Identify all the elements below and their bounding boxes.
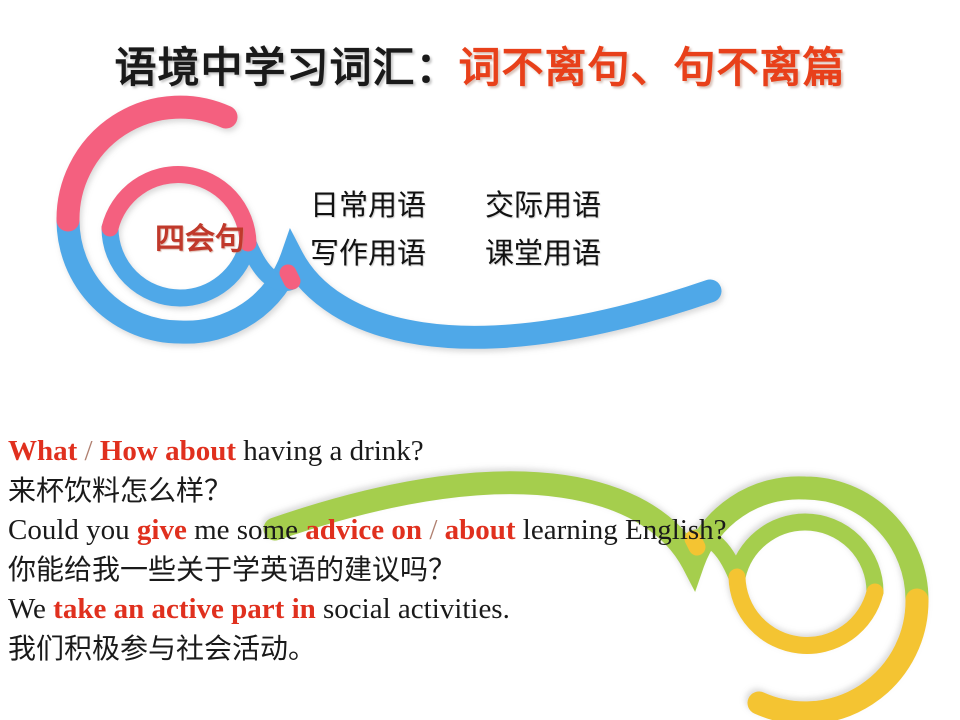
example-1-en: What / How about having a drink? — [8, 432, 838, 471]
example-sentence-list: What / How about having a drink?来杯饮料怎么样？… — [8, 432, 838, 669]
example-3-en: We take an active part in social activit… — [8, 590, 838, 629]
highlighted-phrase: take an active part in — [53, 593, 316, 625]
slide-canvas: 语境中学习词汇：词不离句、句不离篇 四会句 日常用语 交际用语 写作用语 课堂用… — [0, 0, 960, 720]
phrase-separator: / — [422, 514, 445, 546]
plain-text: 来杯饮料怎么样？ — [8, 474, 232, 507]
plain-text: We — [8, 593, 53, 625]
category-item-classroom: 课堂用语 — [485, 230, 601, 272]
category-grid: 日常用语 交际用语 写作用语 课堂用语 — [310, 182, 601, 272]
plain-text: me some — [187, 514, 305, 546]
example-3-cn: 我们积极参与社会活动。 — [8, 629, 838, 669]
highlighted-phrase: advice on — [305, 514, 422, 546]
plain-text: social activities. — [316, 593, 510, 625]
category-item-daily: 日常用语 — [310, 182, 485, 224]
ring-center-label: 四会句 — [130, 214, 270, 258]
highlighted-phrase: What — [8, 435, 77, 467]
inner-tail-pink-tip — [288, 273, 292, 281]
plain-text: 你能给我一些关于学英语的建议吗？ — [8, 553, 456, 586]
example-2-cn: 你能给我一些关于学英语的建议吗？ — [8, 550, 838, 590]
highlighted-phrase: How about — [100, 435, 236, 467]
outer-arm-pink — [68, 107, 226, 220]
phrase-separator: / — [77, 435, 100, 467]
plain-text: having a drink? — [236, 435, 424, 467]
example-1-cn: 来杯饮料怎么样？ — [8, 471, 838, 511]
example-2-en: Could you give me some advice on / about… — [8, 511, 838, 550]
highlighted-phrase: give — [137, 514, 187, 546]
plain-text: 我们积极参与社会活动。 — [8, 632, 316, 665]
page-title: 语境中学习词汇：词不离句、句不离篇 — [0, 34, 960, 95]
category-item-writing: 写作用语 — [310, 230, 485, 272]
category-item-social: 交际用语 — [485, 182, 601, 224]
plain-text: Could you — [8, 514, 137, 546]
title-accent-text: 词不离句、句不离篇 — [459, 43, 846, 92]
plain-text: learning English? — [516, 514, 727, 546]
highlighted-phrase: about — [445, 514, 516, 546]
title-main-text: 语境中学习词汇： — [114, 43, 458, 92]
